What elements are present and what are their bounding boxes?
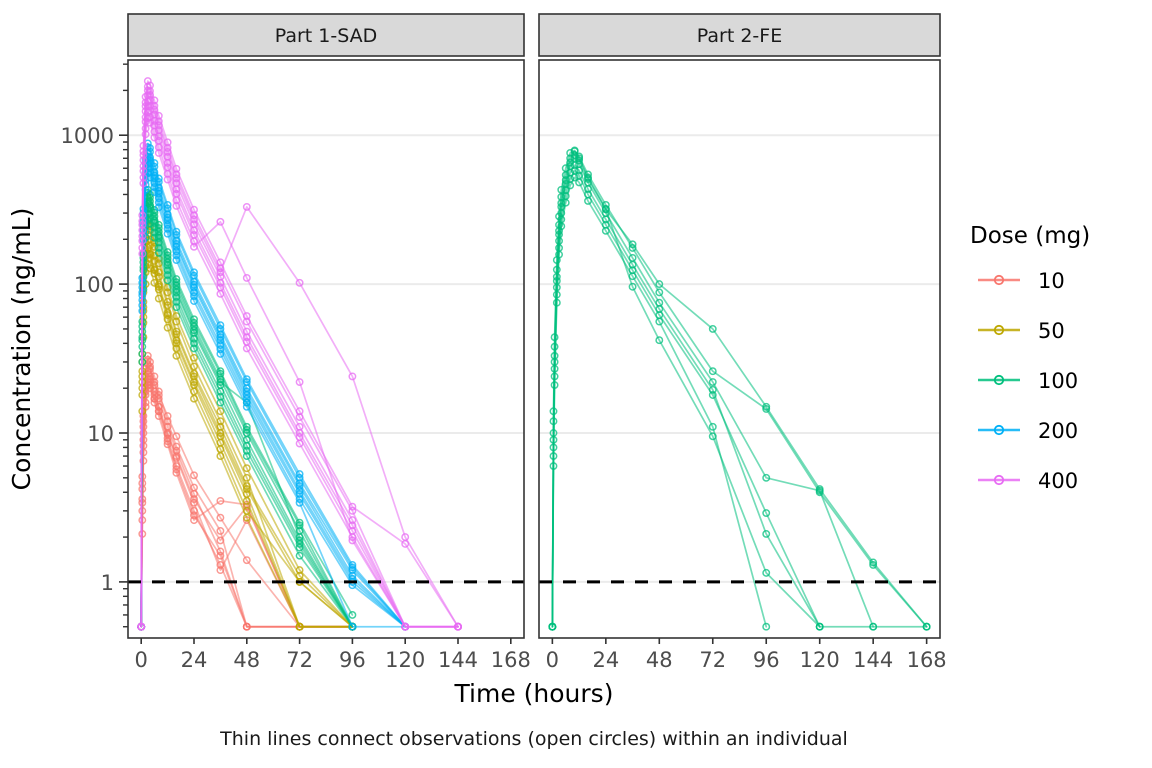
x-tick-label: 0 [135, 648, 148, 672]
y-tick-label: 10 [87, 422, 114, 446]
legend-item-10[interactable]: 10 [978, 269, 1065, 293]
legend-item-label: 50 [1038, 319, 1065, 343]
y-tick-label: 100 [74, 273, 114, 297]
x-tick-label: 24 [592, 648, 619, 672]
x-tick-label: 144 [853, 648, 893, 672]
y-tick-label: 1 [101, 571, 114, 595]
legend-item-400[interactable]: 400 [978, 469, 1078, 493]
x-tick-label: 0 [546, 648, 559, 672]
panel-strip-label: Part 2-FE [697, 25, 782, 47]
panel-strip-label: Part 1-SAD [275, 25, 378, 47]
y-axis-title: Concentration (ng/mL) [7, 208, 36, 491]
x-tick-label: 120 [800, 648, 840, 672]
legend-item-100[interactable]: 100 [978, 369, 1078, 393]
facet-panel-2: Part 2-FE024487296120144168 [539, 14, 947, 672]
legend: Dose (mg)1050100200400 [970, 223, 1090, 493]
legend-item-200[interactable]: 200 [978, 419, 1078, 443]
x-tick-label: 72 [699, 648, 726, 672]
legend-item-label: 10 [1038, 269, 1065, 293]
x-tick-label: 24 [181, 648, 208, 672]
x-tick-label: 72 [286, 648, 313, 672]
x-tick-label: 48 [233, 648, 260, 672]
pk-concentration-time-figure: Part 1-SAD024487296120144168Part 2-FE024… [0, 0, 1152, 768]
legend-item-label: 200 [1038, 419, 1078, 443]
legend-item-label: 100 [1038, 369, 1078, 393]
x-tick-label: 96 [753, 648, 780, 672]
facet-panel-1: Part 1-SAD024487296120144168 [128, 14, 531, 672]
figure-caption: Thin lines connect observations (open ci… [219, 728, 848, 750]
x-tick-label: 144 [438, 648, 478, 672]
legend-item-label: 400 [1038, 469, 1078, 493]
plot-background [539, 60, 940, 638]
legend-title: Dose (mg) [970, 223, 1090, 249]
x-tick-label: 120 [385, 648, 425, 672]
y-axis: 1101001000 [61, 64, 128, 627]
x-tick-label: 48 [646, 648, 673, 672]
y-tick-label: 1000 [61, 124, 114, 148]
x-tick-label: 168 [907, 648, 947, 672]
x-axis-title: Time (hours) [454, 679, 614, 708]
legend-item-50[interactable]: 50 [978, 319, 1065, 343]
x-tick-label: 168 [491, 648, 531, 672]
x-tick-label: 96 [339, 648, 366, 672]
